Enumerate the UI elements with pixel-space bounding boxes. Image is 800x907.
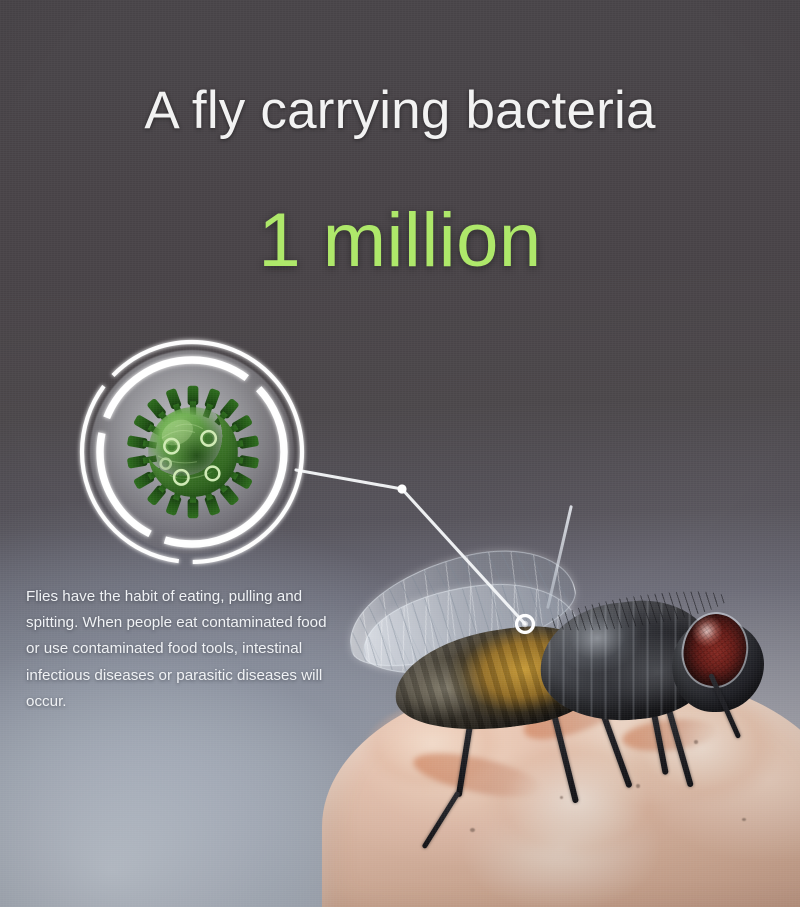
virus-particle bbox=[115, 374, 271, 530]
bacteria-magnifier bbox=[62, 322, 322, 582]
infographic-poster: A fly carrying bacteria 1 million Flies … bbox=[0, 0, 800, 907]
body-paragraph: Flies have the habit of eating, pulling … bbox=[26, 584, 336, 715]
headline-count: 1 million bbox=[0, 197, 800, 284]
connector-elbow-node bbox=[397, 484, 406, 493]
page-title: A fly carrying bacteria bbox=[0, 80, 800, 141]
